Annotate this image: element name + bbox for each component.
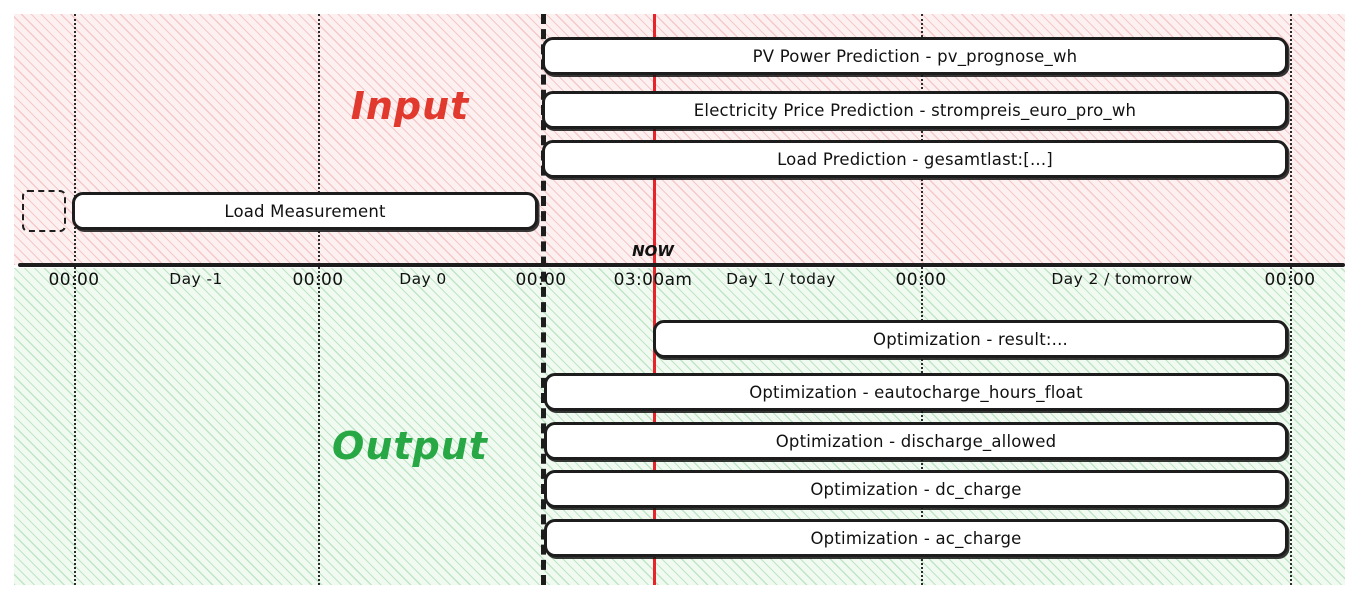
output-bar-3[interactable]: Optimization - dc_charge	[544, 470, 1288, 508]
axis-tick-6: Day 1 / today	[726, 270, 836, 288]
axis-tick-5: 03:00am	[614, 270, 693, 290]
gridline-5	[1290, 14, 1292, 585]
bar-label: Electricity Price Prediction - stromprei…	[694, 101, 1136, 120]
bar-label: PV Power Prediction - pv_prognose_wh	[753, 47, 1078, 66]
bar-label: Load Prediction - gesamtlast:[...]	[777, 150, 1053, 169]
input-bar-2[interactable]: Load Prediction - gesamtlast:[...]	[542, 140, 1288, 178]
output-bar-4[interactable]: Optimization - ac_charge	[544, 519, 1288, 557]
input-bar-0[interactable]: PV Power Prediction - pv_prognose_wh	[542, 37, 1288, 75]
output-bar-2[interactable]: Optimization - discharge_allowed	[544, 422, 1288, 460]
axis-tick-8: Day 2 / tomorrow	[1051, 270, 1192, 288]
axis-tick-4: 00:00	[516, 270, 567, 290]
axis-tick-7: 00:00	[896, 270, 947, 290]
input-section-title: Input	[351, 84, 470, 128]
gridline-0	[74, 14, 76, 585]
time-axis	[18, 263, 1345, 267]
axis-tick-2: 00:00	[293, 270, 344, 290]
load-measurement-placeholder-box	[22, 190, 66, 232]
gridline-1	[318, 14, 320, 585]
bar-label: Optimization - discharge_allowed	[776, 432, 1057, 451]
bar-label: Optimization - ac_charge	[811, 529, 1022, 548]
output-bar-1[interactable]: Optimization - eautocharge_hours_float	[544, 373, 1288, 411]
axis-tick-1: Day -1	[169, 270, 222, 288]
axis-tick-9: 00:00	[1265, 270, 1316, 290]
bar-label: Optimization - dc_charge	[810, 480, 1021, 499]
output-section-title: Output	[332, 424, 488, 468]
axis-tick-3: Day 0	[399, 270, 446, 288]
bar-label: Load Measurement	[224, 202, 385, 221]
output-bar-0[interactable]: Optimization - result:...	[653, 320, 1288, 358]
input-bar-3[interactable]: Load Measurement	[72, 192, 538, 230]
input-bar-1[interactable]: Electricity Price Prediction - stromprei…	[542, 91, 1288, 129]
bar-label: Optimization - result:...	[873, 330, 1068, 349]
now-marker-label: NOW	[632, 242, 674, 260]
timeline-diagram: Input Output PV Power Prediction - pv_pr…	[0, 0, 1359, 592]
axis-tick-0: 00:00	[49, 270, 100, 290]
bar-label: Optimization - eautocharge_hours_float	[749, 383, 1083, 402]
